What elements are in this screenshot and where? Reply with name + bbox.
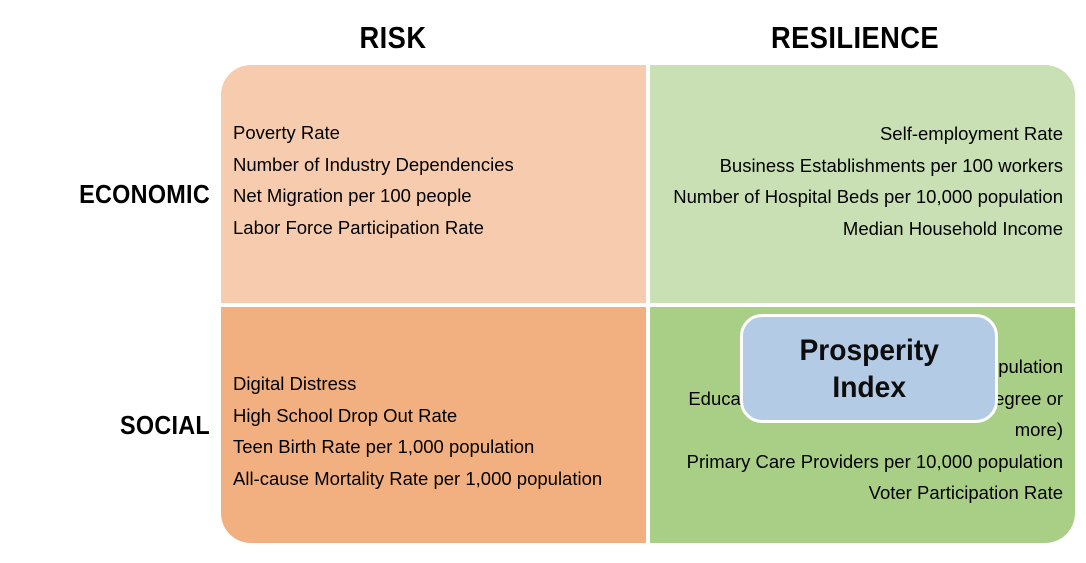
row-label-social: SOCIAL [21, 410, 210, 441]
column-header-resilience: RESILIENCE [749, 20, 960, 56]
indicator-list-social-risk: Digital DistressHigh School Drop Out Rat… [233, 368, 634, 494]
indicator-item: Number of Industry Dependencies [233, 149, 634, 181]
indicator-item: Teen Birth Rate per 1,000 population [233, 431, 634, 463]
center-callout-prosperity-index: Prosperity Index [740, 314, 998, 423]
prosperity-index-matrix: Poverty RateNumber of Industry Dependenc… [221, 65, 1075, 543]
indicator-item: Labor Force Participation Rate [233, 212, 634, 244]
row-label-economic: ECONOMIC [21, 179, 210, 210]
indicator-item: All-cause Mortality Rate per 1,000 popul… [233, 463, 634, 495]
column-header-risk: RISK [305, 20, 481, 56]
quadrant-social-risk: Digital DistressHigh School Drop Out Rat… [221, 307, 646, 543]
indicator-item: Number of Hospital Beds per 10,000 popul… [662, 181, 1063, 213]
indicator-item: Net Migration per 100 people [233, 180, 634, 212]
indicator-item: Self-employment Rate [662, 118, 1063, 150]
quadrant-economic-resilience: Self-employment RateBusiness Establishme… [650, 65, 1075, 303]
center-callout-label: Prosperity Index [799, 332, 938, 406]
indicator-item: Poverty Rate [233, 117, 634, 149]
indicator-item: Voter Participation Rate [662, 477, 1063, 509]
indicator-item: Primary Care Providers per 10,000 popula… [662, 446, 1063, 478]
indicator-list-economic-resilience: Self-employment RateBusiness Establishme… [662, 118, 1063, 244]
quadrant-economic-risk: Poverty RateNumber of Industry Dependenc… [221, 65, 646, 303]
indicator-item: Business Establishments per 100 workers [662, 150, 1063, 182]
indicator-list-economic-risk: Poverty RateNumber of Industry Dependenc… [233, 117, 634, 243]
indicator-item: High School Drop Out Rate [233, 400, 634, 432]
indicator-item: Median Household Income [662, 213, 1063, 245]
indicator-item: Digital Distress [233, 368, 634, 400]
